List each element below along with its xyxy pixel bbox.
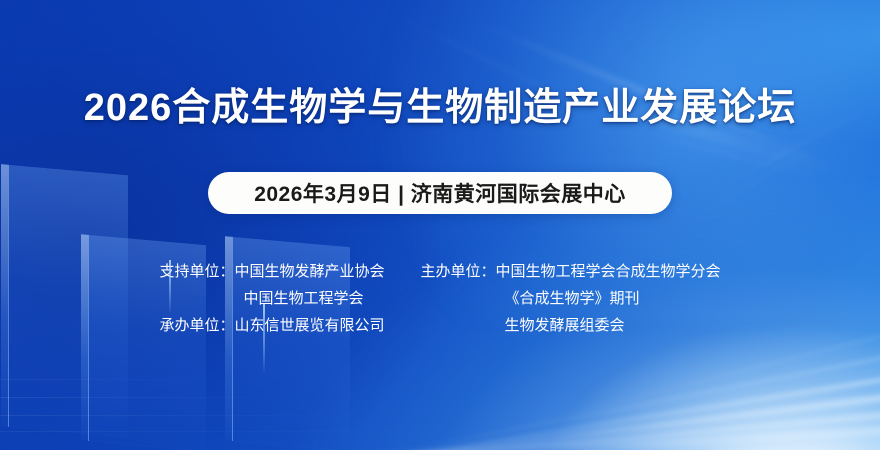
info-value: 中国生物发酵产业协会 <box>234 258 384 285</box>
info-value: 生物发酵展组委会 <box>505 312 625 339</box>
host-info-column: 主办单位： 中国生物工程学会合成生物学分会 《合成生物学》期刊 生物发酵展组委会 <box>421 258 721 339</box>
organizer-info: 支持单位： 中国生物发酵产业协会 中国生物工程学会 承办单位： 山东信世展览有限… <box>0 258 880 339</box>
info-value: 《合成生物学》期刊 <box>505 285 640 312</box>
info-row: 承办单位： 山东信世展览有限公司 <box>159 312 384 339</box>
info-row: 生物发酵展组委会 <box>421 312 721 339</box>
info-row: 《合成生物学》期刊 <box>421 285 721 312</box>
info-row: 中国生物工程学会 <box>159 285 384 312</box>
vertical-accent-line <box>169 260 171 314</box>
info-row: 主办单位： 中国生物工程学会合成生物学分会 <box>421 258 721 285</box>
info-label: 主办单位： <box>421 258 496 285</box>
info-value: 中国生物工程学会合成生物学分会 <box>496 258 721 285</box>
page-title: 2026合成生物学与生物制造产业发展论坛 <box>0 88 880 130</box>
vertical-accent-line <box>263 304 265 374</box>
info-value: 山东信世展览有限公司 <box>234 312 384 339</box>
support-info-column: 支持单位： 中国生物发酵产业协会 中国生物工程学会 承办单位： 山东信世展览有限… <box>159 258 384 339</box>
info-row: 支持单位： 中国生物发酵产业协会 <box>159 258 384 285</box>
date-venue-container: 2026年3月9日 | 济南黄河国际会展中心 <box>0 172 880 214</box>
info-value: 中国生物工程学会 <box>243 285 363 312</box>
date-venue-badge: 2026年3月9日 | 济南黄河国际会展中心 <box>208 172 672 214</box>
info-label: 承办单位： <box>159 312 234 339</box>
event-banner: 2026合成生物学与生物制造产业发展论坛 2026年3月9日 | 济南黄河国际会… <box>0 0 880 450</box>
